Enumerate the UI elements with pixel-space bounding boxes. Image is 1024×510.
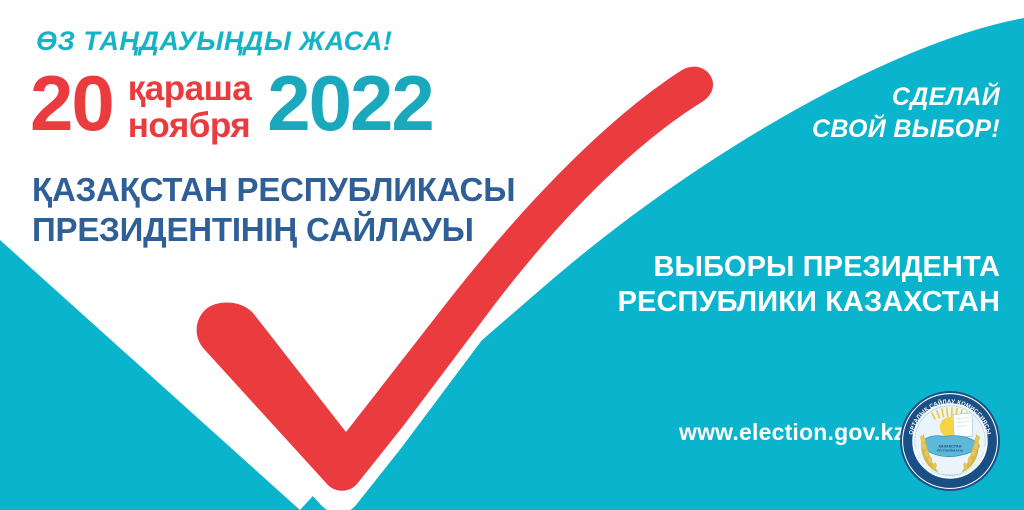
headline-russian-line2: РЕСПУБЛИКИ КАЗАХСТАН [618, 285, 1000, 320]
seal-map-label: ҚАЗАҚСТАН [939, 445, 962, 449]
tagline-russian-line2: СВОЙ ВЫБОР! [812, 114, 1000, 146]
date-month-kazakh: қараша [128, 70, 251, 107]
cec-seal-icon: ОРТАЛЫҚ САЙЛАУ КОМИССИЯСЫ ЦЕНТРАЛЬНАЯ ИЗ… [899, 390, 1001, 492]
headline-kazakh-line2: ПРЕЗИДЕНТІНІҢ САЙЛАУЫ [32, 210, 515, 250]
seal-map-sublabel: РЕСПУБЛИКАСЫ [937, 449, 963, 453]
headline-kazakh-line1: ҚАЗАҚСТАН РЕСПУБЛИКАСЫ [32, 170, 515, 210]
date-month-stack: қараша ноября [128, 70, 251, 144]
tagline-russian-line1: СДЕЛАЙ [812, 82, 1000, 114]
date-year: 2022 [267, 66, 433, 141]
election-date: 20 қараша ноября 2022 [30, 66, 433, 144]
tagline-russian: СДЕЛАЙ СВОЙ ВЫБОР! [812, 82, 1000, 145]
headline-russian-line1: ВЫБОРЫ ПРЕЗИДЕНТА [618, 250, 1000, 285]
date-day: 20 [30, 66, 113, 141]
date-month-russian: ноября [128, 107, 251, 144]
headline-kazakh: ҚАЗАҚСТАН РЕСПУБЛИКАСЫ ПРЕЗИДЕНТІНІҢ САЙ… [32, 170, 515, 249]
website-url[interactable]: www.election.gov.kz [679, 419, 905, 446]
tagline-kazakh: ӨЗ ТАҢДАУЫҢДЫ ЖАСА! [36, 26, 392, 57]
seal-ballot-paper [953, 413, 973, 437]
election-banner: ӨЗ ТАҢДАУЫҢДЫ ЖАСА! 20 қараша ноября 202… [0, 0, 1024, 510]
headline-russian: ВЫБОРЫ ПРЕЗИДЕНТА РЕСПУБЛИКИ КАЗАХСТАН [618, 250, 1000, 321]
